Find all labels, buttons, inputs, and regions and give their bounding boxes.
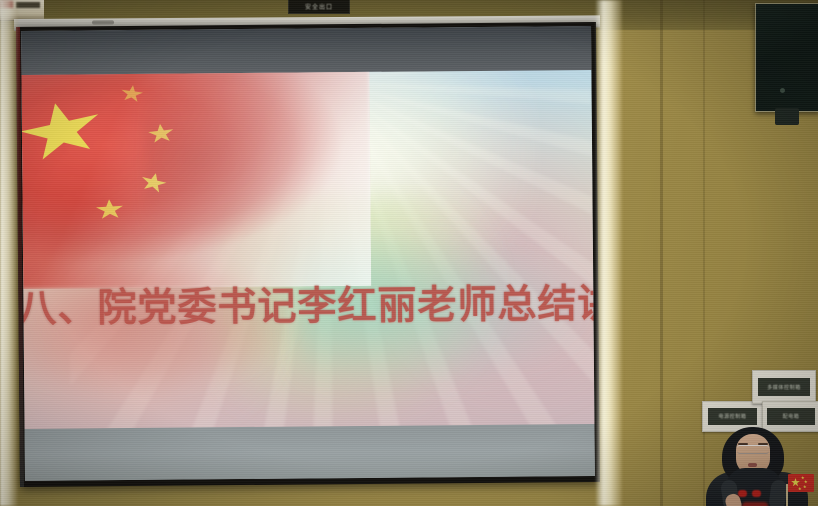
person-coat-accent — [752, 490, 761, 497]
speaker-person — [700, 424, 818, 506]
corner-fixture-label — [16, 2, 40, 8]
wall-plaque-label: 电源控制箱 — [718, 413, 746, 420]
wall-plaque-label: 配电箱 — [783, 413, 800, 420]
window-light-strip — [596, 0, 622, 506]
left-light-strip — [0, 0, 18, 506]
chinese-flag-graphic — [21, 70, 371, 289]
wall-seam — [660, 0, 663, 506]
person-glasses — [737, 445, 769, 454]
wall-plaque-label: 多媒体控制箱 — [767, 384, 801, 391]
ceiling-sign: 安全出口 — [288, 0, 350, 14]
projection-screen: 八、院党委书记李红丽老师总结讲话 — [16, 22, 600, 487]
speaker-indicator-dot — [780, 88, 785, 93]
ceiling-sign-label: 安全出口 — [305, 2, 333, 11]
screen-housing-nub — [92, 20, 114, 24]
person-mouth — [748, 463, 757, 467]
screen-blank-area — [25, 424, 595, 481]
person-coat-accent — [742, 502, 768, 506]
photo-scene: 安全出口 — [0, 0, 818, 506]
flag-star-small — [803, 485, 807, 489]
flag-star-small — [798, 487, 802, 491]
person-coat-accent — [738, 490, 747, 497]
wall-plaque-panel: 电源控制箱 — [708, 408, 758, 424]
wall-plaque-panel: 多媒体控制箱 — [758, 378, 810, 396]
speaker-mount-bracket — [775, 108, 799, 125]
slide-title: 八、院党委书记李红丽老师总结讲话 — [21, 282, 594, 333]
flag-star-small — [804, 480, 808, 484]
handheld-chinese-flag-icon — [788, 474, 814, 492]
person-scarf — [768, 479, 788, 506]
screen-surface: 八、院党委书记李红丽老师总结讲话 — [21, 26, 595, 481]
flag-star-small — [801, 476, 805, 480]
wall-plaque-panel: 配电箱 — [767, 408, 814, 424]
flag-fade-overlay — [21, 70, 371, 289]
wall-speaker-icon — [755, 3, 818, 112]
projected-slide: 八、院党委书记李红丽老师总结讲话 — [21, 70, 594, 431]
flag-star-large — [791, 478, 800, 487]
wall-plaque: 多媒体控制箱 — [752, 370, 816, 404]
screen-top-mask — [21, 26, 591, 77]
